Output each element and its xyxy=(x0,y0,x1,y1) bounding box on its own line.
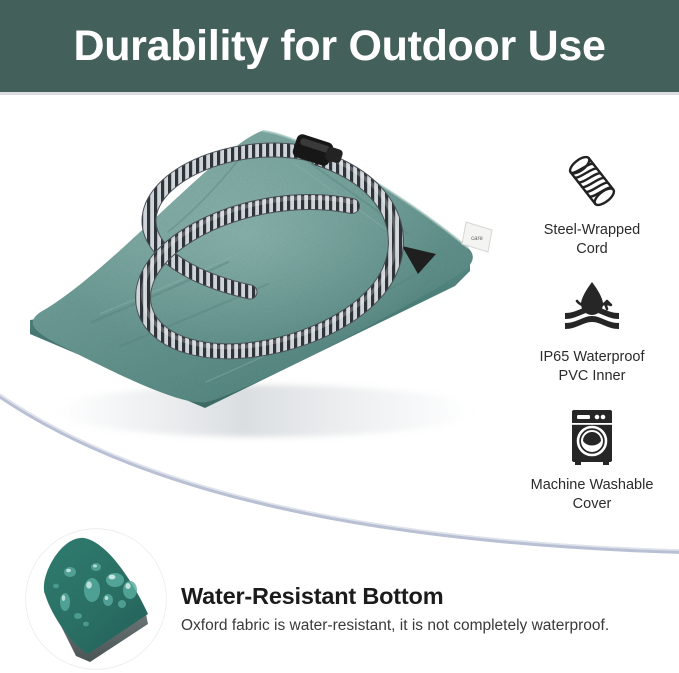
banner-divider xyxy=(0,92,679,95)
bottom-subtext: Oxford fabric is water-resistant, it is … xyxy=(181,617,671,635)
water-resistant-inset-image xyxy=(22,528,170,670)
coil-spring-icon xyxy=(562,152,622,210)
feature-label-line2: PVC Inner xyxy=(512,367,672,386)
bottom-text-block: Water-Resistant Bottom Oxford fabric is … xyxy=(181,583,671,635)
feature-label-ip65-waterproof: IP65 Waterproof PVC Inner xyxy=(512,348,672,386)
feature-label-line1: Machine Washable xyxy=(512,476,672,495)
feature-label-line2: Cord xyxy=(512,240,672,259)
feature-label-line1: IP65 Waterproof xyxy=(512,348,672,367)
bottom-heading: Water-Resistant Bottom xyxy=(181,583,671,610)
feature-item-steel-wrapped-cord: Steel-Wrapped Cord xyxy=(512,150,672,259)
infographic-page: Durability for Outdoor Use xyxy=(0,0,679,673)
feature-label-line1: Steel-Wrapped xyxy=(512,221,672,240)
page-title: Durability for Outdoor Use xyxy=(0,0,679,92)
waterproof-droplet-layers-icon xyxy=(559,279,625,337)
svg-text:care: care xyxy=(471,236,483,242)
washing-machine-icon xyxy=(566,407,618,465)
feature-label-steel-wrapped-cord: Steel-Wrapped Cord xyxy=(512,221,672,259)
feature-icon-wrapper xyxy=(512,150,672,212)
feature-item-machine-washable: Machine Washable Cover xyxy=(512,405,672,514)
feature-icon-wrapper xyxy=(512,405,672,467)
product-shadow xyxy=(55,385,475,437)
feature-label-line2: Cover xyxy=(512,495,672,514)
inset-photo-content xyxy=(22,528,170,670)
feature-label-machine-washable: Machine Washable Cover xyxy=(512,476,672,514)
feature-item-ip65-waterproof: IP65 Waterproof PVC Inner xyxy=(512,277,672,386)
hero-product-image: care xyxy=(0,96,540,496)
feature-icon-wrapper xyxy=(512,277,672,339)
feature-list: Steel-Wrapped Cord IP65 Waterproof PVC I… xyxy=(512,150,672,532)
pad-top-surface xyxy=(33,131,473,402)
